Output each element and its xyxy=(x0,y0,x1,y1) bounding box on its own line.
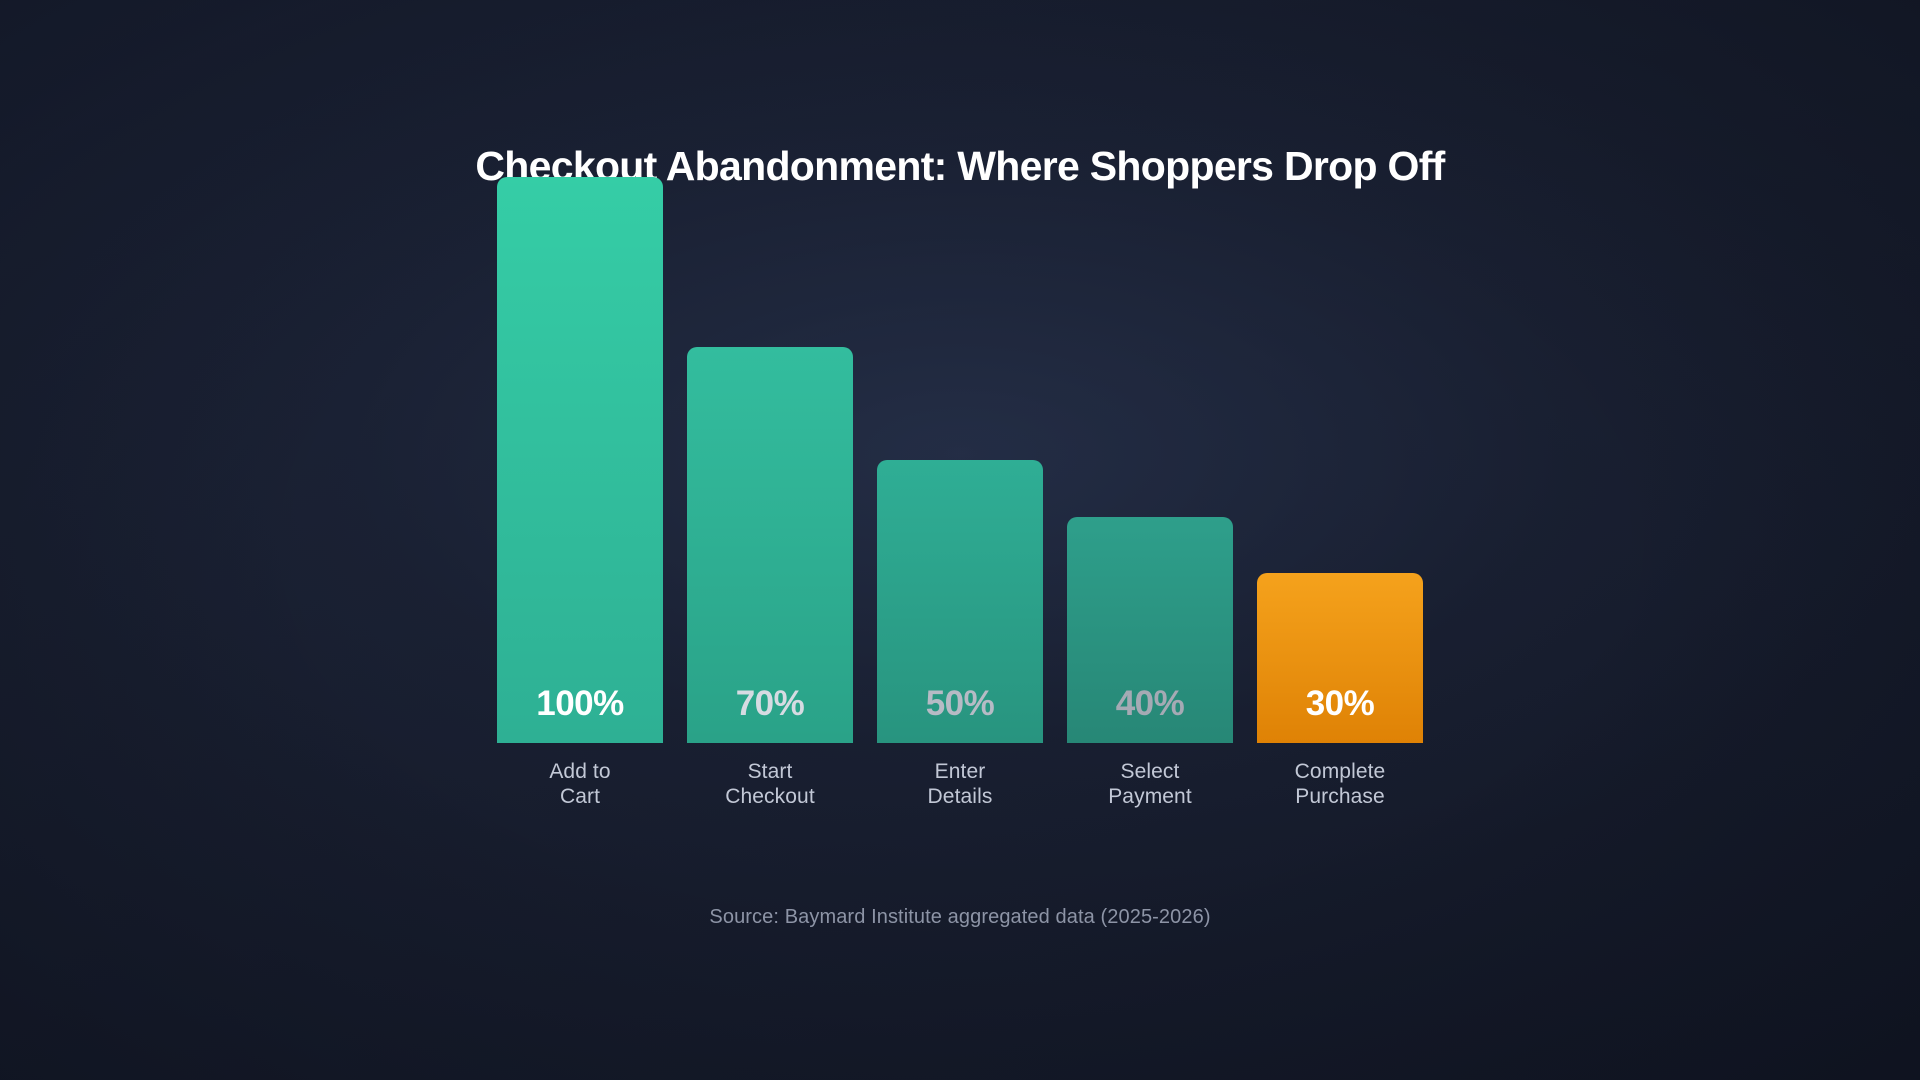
bar-category-label: Add to Cart xyxy=(549,760,610,810)
bar-category-label: Complete Purchase xyxy=(1295,760,1386,810)
source-note: Source: Baymard Institute aggregated dat… xyxy=(0,907,1920,927)
funnel-stage[interactable]: 50%Enter Details xyxy=(877,460,1043,810)
funnel-stage[interactable]: 40%Select Payment xyxy=(1067,517,1233,810)
bar-value-label: 50% xyxy=(926,686,995,743)
bar-category-label: Select Payment xyxy=(1108,760,1192,810)
bar[interactable]: 30% xyxy=(1257,573,1423,743)
bar[interactable]: 70% xyxy=(687,347,853,743)
bar-value-label: 100% xyxy=(536,686,624,743)
funnel-bar-chart: 100%Add to Cart70%Start Checkout50%Enter… xyxy=(0,0,1920,810)
bar-value-label: 40% xyxy=(1116,686,1185,743)
bar-value-label: 70% xyxy=(736,686,805,743)
chart-stage: Checkout Abandonment: Where Shoppers Dro… xyxy=(0,0,1920,1080)
funnel-stage[interactable]: 30%Complete Purchase xyxy=(1257,573,1423,810)
bar[interactable]: 50% xyxy=(877,460,1043,743)
bar-value-label: 30% xyxy=(1306,686,1375,743)
bar-category-label: Start Checkout xyxy=(725,760,815,810)
funnel-stage[interactable]: 100%Add to Cart xyxy=(497,177,663,810)
bar[interactable]: 40% xyxy=(1067,517,1233,743)
funnel-stage[interactable]: 70%Start Checkout xyxy=(687,347,853,810)
bar-category-label: Enter Details xyxy=(928,760,993,810)
bar[interactable]: 100% xyxy=(497,177,663,743)
